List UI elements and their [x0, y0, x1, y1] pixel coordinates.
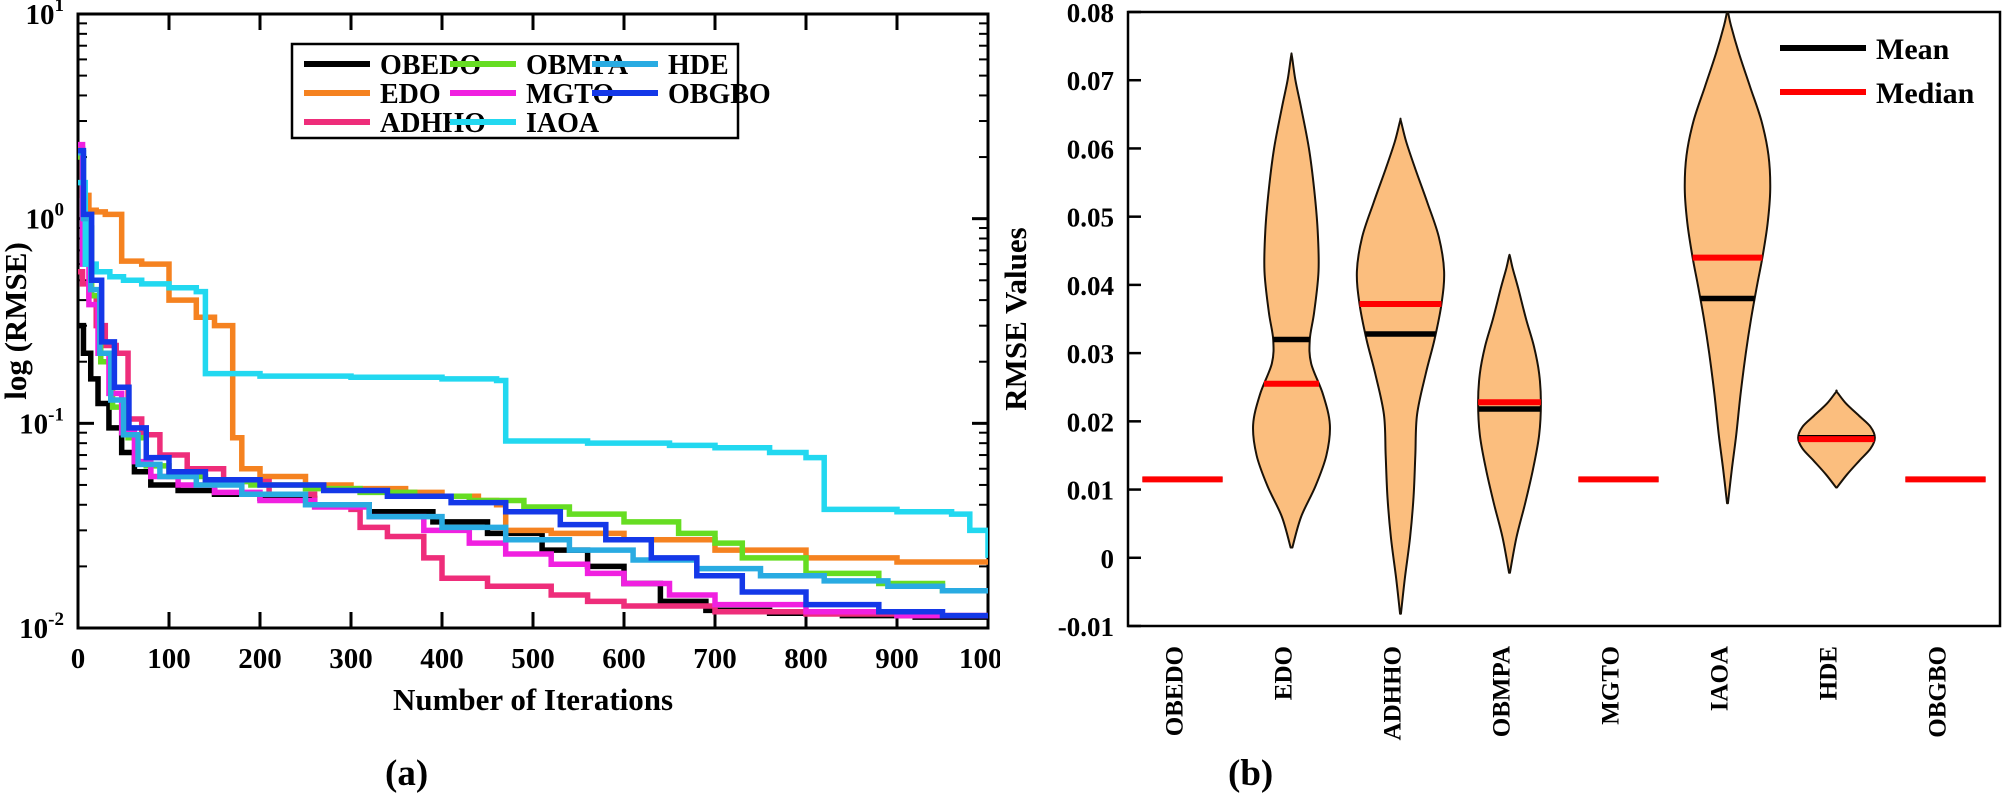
series-group — [78, 145, 988, 618]
legend-label-median: Median — [1876, 77, 1975, 110]
y-tick-label: 0.03 — [1067, 339, 1114, 369]
x-tick-label: 700 — [693, 643, 737, 675]
y-tick-label: 0.07 — [1067, 66, 1114, 96]
y-tick-label: 0.05 — [1067, 203, 1114, 233]
category-label-mgto: MGTO — [1598, 646, 1625, 725]
figure-root: 10-210-110010101002003004005006007008009… — [0, 0, 2007, 811]
legend-label-mean: Mean — [1876, 33, 1950, 66]
x-tick-label: 600 — [602, 643, 646, 675]
violin-body-obmpa — [1478, 255, 1541, 573]
svg-text:100: 100 — [26, 200, 65, 236]
y-axis-label: RMSE Values — [1000, 227, 1033, 410]
y-tick-label: 0.08 — [1067, 0, 1114, 28]
y-tick-label: 0.06 — [1067, 134, 1114, 164]
svg-text:10-2: 10-2 — [19, 609, 64, 645]
y-tick-label: 100 — [26, 200, 65, 236]
panel-a-caption: (a) — [385, 752, 428, 795]
series-line-iaoa — [78, 183, 988, 558]
legend-label-hde: HDE — [668, 50, 729, 81]
series-line-obgbo — [78, 151, 988, 618]
category-label-obmpa: OBMPA — [1489, 646, 1516, 737]
x-axis-label: Number of Iterations — [393, 682, 673, 717]
x-tick-label: 900 — [875, 643, 919, 675]
y-tick-label: 0 — [1101, 544, 1115, 574]
svg-text:101: 101 — [26, 0, 65, 31]
y-tick-label: 10-1 — [19, 404, 64, 440]
x-tick-label: 400 — [420, 643, 464, 675]
legend-label-iaoa: IAOA — [526, 108, 600, 139]
violin-chart: -0.0100.010.020.030.040.050.060.070.08RM… — [1000, 0, 2007, 760]
series-line-edo — [78, 149, 988, 565]
category-label-obedo: OBEDO — [1162, 646, 1189, 736]
legend-label-edo: EDO — [380, 79, 441, 110]
category-label-hde: HDE — [1816, 646, 1843, 700]
panel-b-caption: (b) — [1228, 752, 1273, 795]
x-tick-label: 1000 — [959, 643, 1000, 675]
y-axis-label: log (RMSE) — [0, 242, 33, 400]
panel-violin-plots: -0.0100.010.020.030.040.050.060.070.08RM… — [1000, 0, 2007, 811]
y-tick-label: 0.01 — [1067, 476, 1114, 506]
violin-iaoa — [1685, 10, 1771, 503]
plot-frame — [1128, 12, 2000, 626]
violins-group — [1142, 10, 1985, 613]
x-tick-label: 300 — [329, 643, 373, 675]
violin-body-adhho — [1357, 119, 1444, 614]
legend-label-obgbo: OBGBO — [668, 79, 771, 110]
y-tick-label: 101 — [26, 0, 65, 31]
y-tick-label: 0.02 — [1067, 407, 1114, 437]
x-tick-label: 100 — [147, 643, 191, 675]
y-tick-label: -0.01 — [1058, 612, 1114, 642]
violin-hde — [1798, 391, 1875, 488]
svg-text:10-1: 10-1 — [19, 404, 64, 440]
x-tick-label: 800 — [784, 643, 828, 675]
x-tick-label: 500 — [511, 643, 555, 675]
violin-edo — [1253, 53, 1330, 547]
category-label-iaoa: IAOA — [1707, 646, 1734, 711]
panel-convergence-curves: 10-210-110010101002003004005006007008009… — [0, 0, 1000, 811]
y-tick-label: 0.04 — [1067, 271, 1114, 301]
convergence-chart: 10-210-110010101002003004005006007008009… — [0, 0, 1000, 760]
x-tick-label: 200 — [238, 643, 282, 675]
y-tick-label: 10-2 — [19, 609, 64, 645]
violin-body-edo — [1253, 53, 1330, 547]
violin-obmpa — [1478, 255, 1541, 573]
category-label-edo: EDO — [1271, 646, 1298, 700]
x-tick-label: 0 — [71, 643, 86, 675]
violin-adhho — [1357, 119, 1444, 614]
series-line-mgto — [78, 145, 988, 618]
category-label-adhho: ADHHO — [1380, 646, 1407, 740]
category-label-obgbo: OBGBO — [1925, 646, 1952, 738]
